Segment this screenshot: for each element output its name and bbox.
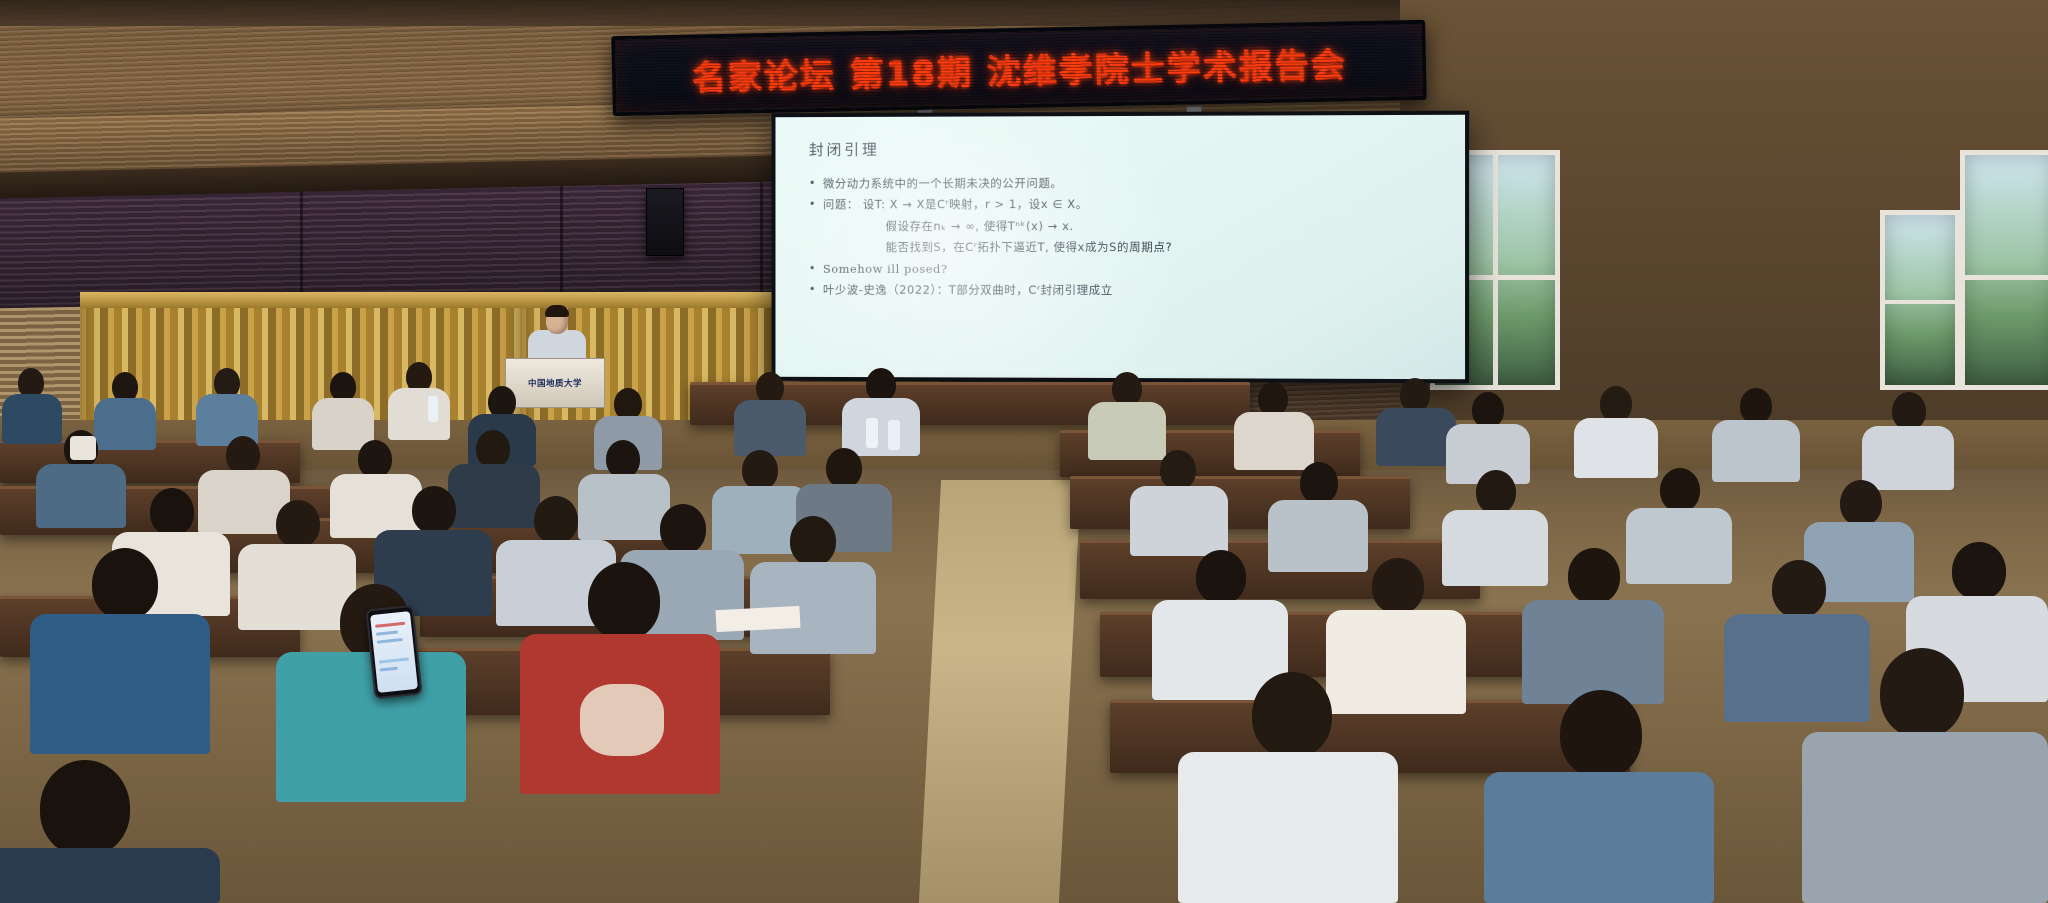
- bullet-dot-icon: •: [809, 174, 816, 192]
- slide-sub-line: 假设存在nₖ → ∞, 使得Tⁿᵏ(x) → x.: [886, 215, 1447, 237]
- slide-bullet-text: 微分动力系统中的一个长期未决的公开问题。: [823, 173, 1063, 195]
- led-banner: 名家论坛 第18期 沈维孝院士学术报告会: [611, 20, 1426, 116]
- slide-bullet-text: Somehow ill posed?: [823, 259, 948, 280]
- slide-bullet: • 问题： 设T: X → X是Cʳ映射，r > 1，设x ∈ X。: [809, 194, 1447, 216]
- bullet-dot-icon: •: [809, 280, 816, 298]
- projection-screen: 封闭引理 • 微分动力系统中的一个长期未决的公开问题。 • 问题： 设T: X …: [772, 111, 1470, 384]
- slide-bullet: • Somehow ill posed?: [809, 259, 1447, 281]
- window-right: [1960, 150, 2048, 390]
- curtain-valance: [80, 292, 780, 308]
- bullet-dot-icon: •: [809, 195, 816, 213]
- slide-sub-line: 能否找到S，在Cʳ拓扑下逼近T, 使得x成为S的周期点?: [886, 237, 1447, 259]
- water-bottle: [866, 418, 878, 448]
- slide-bullet-list: • 微分动力系统中的一个长期未决的公开问题。 • 问题： 设T: X → X是C…: [809, 172, 1447, 215]
- smartphone[interactable]: [365, 605, 422, 700]
- window-right-2: [1880, 210, 1960, 390]
- phone-screen[interactable]: [370, 611, 418, 693]
- center-aisle: [919, 480, 1081, 903]
- desk-item: [70, 436, 96, 460]
- wall-speaker-left: [646, 188, 684, 256]
- water-bottle: [888, 420, 900, 450]
- water-bottle: [428, 396, 438, 422]
- slide-bullet-text: 问题： 设T: X → X是Cʳ映射，r > 1，设x ∈ X。: [823, 194, 1088, 215]
- slide-bullet-list-2: • Somehow ill posed? • 叶少波-史逸（2022）：T部分双…: [809, 259, 1447, 302]
- slide-content: 封闭引理 • 微分动力系统中的一个长期未决的公开问题。 • 问题： 设T: X …: [775, 115, 1465, 380]
- speaker-hair: [545, 305, 569, 317]
- podium-sign-text: 中国地质大学: [528, 377, 582, 389]
- podium: 中国地质大学: [505, 358, 605, 408]
- led-banner-text: 名家论坛 第18期 沈维孝院士学术报告会: [691, 37, 1347, 99]
- shirt-graphic: [580, 684, 664, 756]
- paper-sheet: [715, 606, 800, 632]
- lecture-hall-photo: 名家论坛 第18期 沈维孝院士学术报告会 封闭引理 • 微分动力系统中的一个长期…: [0, 0, 2048, 903]
- slide-title: 封闭引理: [809, 137, 1447, 160]
- slide-bullet-text: 叶少波-史逸（2022）：T部分双曲时，Cʳ封闭引理成立: [823, 280, 1113, 302]
- bullet-dot-icon: •: [809, 259, 816, 277]
- slide-bullet: • 微分动力系统中的一个长期未决的公开问题。: [809, 172, 1447, 194]
- slide-bullet: • 叶少波-史逸（2022）：T部分双曲时，Cʳ封闭引理成立: [809, 280, 1447, 302]
